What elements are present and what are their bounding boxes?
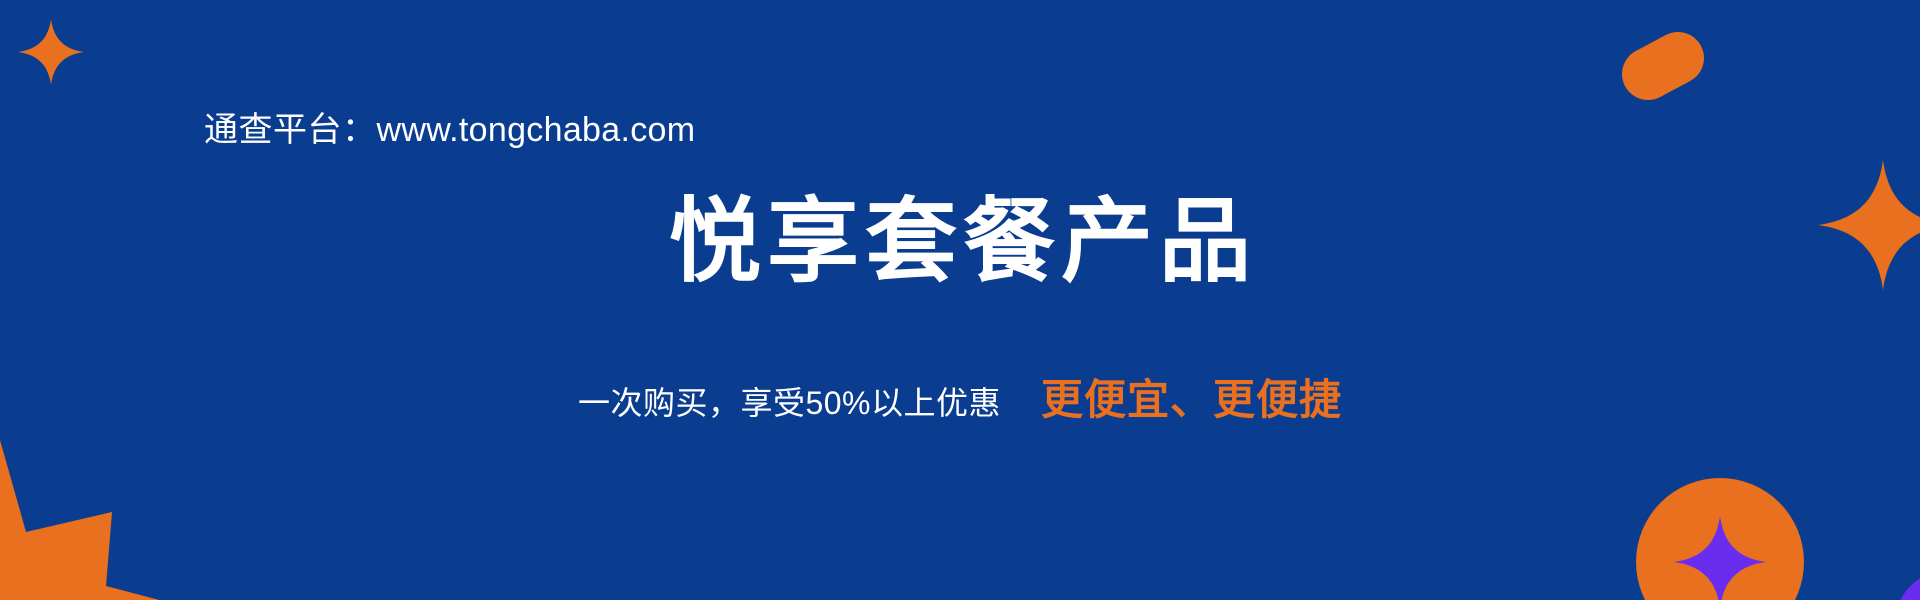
promo-banner: 通查平台：www.tongchaba.com 悦享套餐产品 一次购买，享受50%… (0, 0, 1920, 600)
subtitle-row: 一次购买，享受50%以上优惠 更便宜、更便捷 (0, 366, 1920, 427)
platform-label: 通查平台： (204, 111, 377, 149)
platform-url[interactable]: www.tongchaba.com (377, 111, 696, 149)
subtitle-text: 一次购买，享受50%以上优惠 (578, 378, 1001, 424)
star-top-left-icon (18, 14, 84, 90)
page-title: 悦享套餐产品 (0, 196, 1920, 288)
star-in-circle-icon (1674, 516, 1766, 600)
subtitle-highlight-text: 更便宜、更便捷 (1041, 366, 1342, 427)
blob-bottom-left-icon (0, 440, 220, 600)
platform-line: 通查平台：www.tongchaba.com (204, 110, 695, 151)
sliver-bottom-right-corner-icon (1884, 566, 1920, 600)
